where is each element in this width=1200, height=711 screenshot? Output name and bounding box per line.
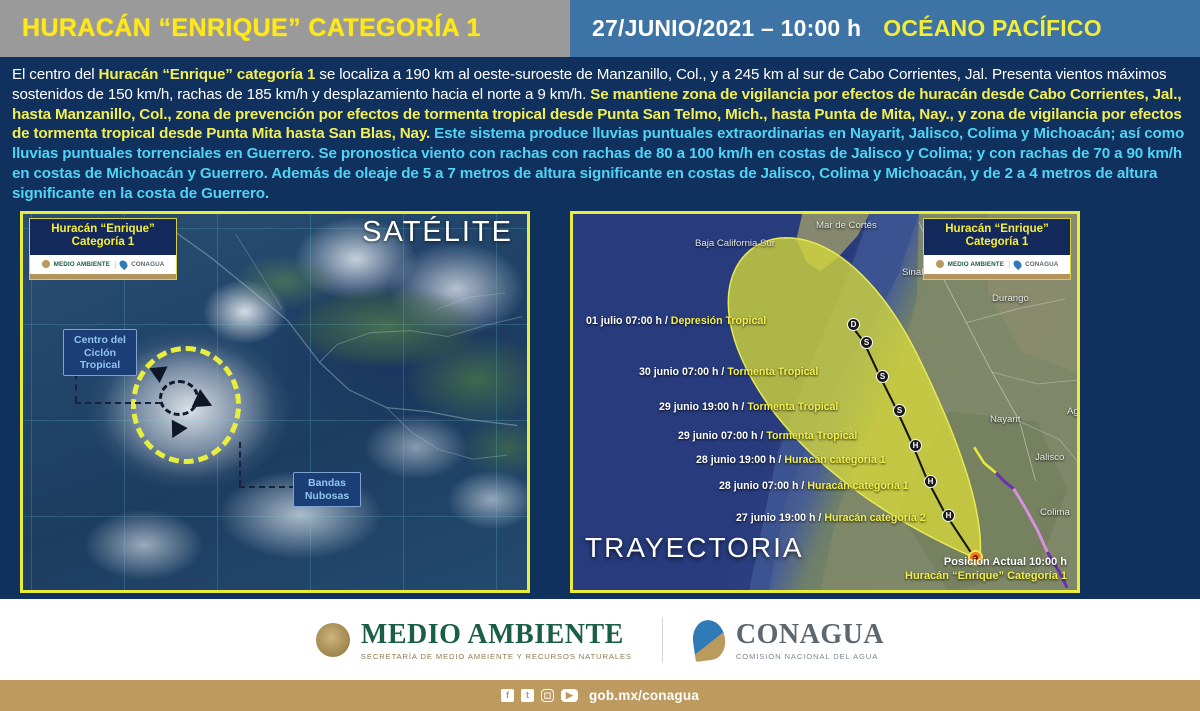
water-drop-icon xyxy=(118,259,129,270)
forecast-time-2: 29 junio 19:00 h xyxy=(659,401,738,413)
forecast-sep-4: / xyxy=(775,454,784,466)
forecast-label-01julio: 01 julio 07:00 h / Depresión Tropical xyxy=(586,315,766,327)
forecast-sep-0: / xyxy=(662,315,671,327)
forecast-sep-2: / xyxy=(738,401,747,413)
place-label-jalisco: Jalisco xyxy=(1035,452,1064,463)
satellite-badge-logo-cn: CONAGUA xyxy=(131,261,164,268)
trajectory-badge-logos: MEDIO AMBIENTE | CONAGUA xyxy=(924,255,1070,274)
footer-logo-divider xyxy=(662,617,663,663)
forecast-category-5: Huracán categoría 1 xyxy=(807,480,908,492)
trajectory-panel-label: TRAYECTORIA xyxy=(585,532,804,564)
forecast-time-5: 28 junio 07:00 h xyxy=(719,480,798,492)
forecast-time-3: 29 junio 07:00 h xyxy=(678,430,757,442)
text-segment-1: El centro del xyxy=(12,66,99,83)
callout-leader-horizontal-centro xyxy=(75,402,161,404)
forecast-category-4: Huracán categoría 1 xyxy=(784,454,885,466)
logo-conagua: CONAGUA COMISIÓN NACIONAL DEL AGUA xyxy=(693,619,884,661)
place-label-nayarit: Nayarit xyxy=(990,414,1020,425)
forecast-sep-6: / xyxy=(815,512,824,524)
footer-medio-ambiente-title: MEDIO AMBIENTE xyxy=(361,619,632,651)
forecast-category-1: Tormenta Tropical xyxy=(727,366,818,378)
forecast-time-4: 28 junio 19:00 h xyxy=(696,454,775,466)
text-segment-2-highlight: Huracán “Enrique” categoría 1 xyxy=(99,66,316,83)
trajectory-badge-logo-ma: MEDIO AMBIENTE xyxy=(948,261,1004,268)
twitter-icon[interactable]: t xyxy=(521,689,534,702)
footer-social-bar: f t ◻ ▶ gob.mx/conagua xyxy=(0,680,1200,711)
forecast-label-28junio-0700: 28 junio 07:00 h / Huracán categoría 1 xyxy=(719,480,909,492)
footer-logos-bar: MEDIO AMBIENTE SECRETARÍA DE MEDIO AMBIE… xyxy=(0,599,1200,680)
forecast-label-29junio-1900: 29 junio 19:00 h / Tormenta Tropical xyxy=(659,401,838,413)
header-right-section: 27/JUNIO/2021 – 10:00 h OCÉANO PACÍFICO xyxy=(570,0,1200,57)
place-label-mar-de-cortes: Mar de Cortés xyxy=(816,220,877,231)
satellite-badge-title: Huracán “Enrique” Categoría 1 xyxy=(30,219,176,254)
place-label-baja-california-sur: Baja California Sur xyxy=(695,238,775,249)
callout-centro-ciclon-tropical: Centro del Ciclón Tropical xyxy=(63,329,137,376)
forecast-time-1: 30 junio 07:00 h xyxy=(639,366,718,378)
eagle-emblem-icon xyxy=(42,260,50,268)
footer-conagua-title: CONAGUA xyxy=(736,619,884,651)
satellite-badge-logos: MEDIO AMBIENTE | CONAGUA xyxy=(30,255,176,274)
footer-medio-ambiente-subtitle: SECRETARÍA DE MEDIO AMBIENTE Y RECURSOS … xyxy=(361,652,632,661)
header-bar: HURACÁN “ENRIQUE” CATEGORÍA 1 27/JUNIO/2… xyxy=(0,0,1200,57)
conagua-drop-icon xyxy=(690,617,727,661)
forecast-category-0: Depresión Tropical xyxy=(671,315,766,327)
facebook-icon[interactable]: f xyxy=(501,689,514,702)
satellite-badge: Huracán “Enrique” Categoría 1 MEDIO AMBI… xyxy=(29,218,177,279)
forecast-sep-3: / xyxy=(757,430,766,442)
youtube-icon[interactable]: ▶ xyxy=(561,689,578,702)
water-drop-icon xyxy=(1012,259,1023,270)
bulletin-text: El centro del Huracán “Enrique” categorí… xyxy=(0,57,1200,205)
forecast-label-29junio-0700: 29 junio 07:00 h / Tormenta Tropical xyxy=(678,430,857,442)
instagram-icon[interactable]: ◻ xyxy=(541,689,554,702)
hurricane-eye-ring xyxy=(159,380,199,416)
panels-container: Centro del Ciclón Tropical Bandas Nubosa… xyxy=(0,205,1200,603)
trajectory-panel: D S S S H H H 01 julio 07:00 h / Depresi… xyxy=(570,211,1080,593)
header-ocean-label: OCÉANO PACÍFICO xyxy=(883,15,1102,42)
place-label-ags: Ags xyxy=(1067,406,1080,417)
satellite-badge-line2: Categoría 1 xyxy=(32,236,174,249)
current-position-line2: Huracán “Enrique” Categoría 1 xyxy=(905,569,1067,584)
satellite-badge-strip xyxy=(30,274,176,279)
mexico-coat-of-arms-icon xyxy=(316,623,350,657)
callout-leader-horizontal-bandas xyxy=(239,486,295,488)
forecast-label-28junio-1900: 28 junio 19:00 h / Huracán categoría 1 xyxy=(696,454,886,466)
place-label-colima: Colima xyxy=(1040,507,1070,518)
forecast-time-6: 27 junio 19:00 h xyxy=(736,512,815,524)
forecast-category-2: Tormenta Tropical xyxy=(747,401,838,413)
forecast-sep-5: / xyxy=(798,480,807,492)
forecast-category-3: Tormenta Tropical xyxy=(766,430,857,442)
trajectory-badge-line2: Categoría 1 xyxy=(926,236,1068,249)
trajectory-badge-title: Huracán “Enrique” Categoría 1 xyxy=(924,219,1070,254)
footer-conagua-subtitle: COMISIÓN NACIONAL DEL AGUA xyxy=(736,652,884,661)
trajectory-badge: Huracán “Enrique” Categoría 1 MEDIO AMBI… xyxy=(923,218,1071,279)
eagle-emblem-icon xyxy=(936,260,944,268)
header-datetime: 27/JUNIO/2021 – 10:00 h xyxy=(592,15,861,42)
page-title: HURACÁN “ENRIQUE” CATEGORÍA 1 xyxy=(22,14,481,43)
satellite-badge-line1: Huracán “Enrique” xyxy=(32,223,174,236)
satellite-badge-logo-ma: MEDIO AMBIENTE xyxy=(54,261,110,268)
logo-medio-ambiente: MEDIO AMBIENTE SECRETARÍA DE MEDIO AMBIE… xyxy=(316,619,632,661)
forecast-category-6: Huracán categoría 2 xyxy=(824,512,925,524)
forecast-sep-1: / xyxy=(718,366,727,378)
satellite-panel-label: SATÉLITE xyxy=(362,216,513,249)
forecast-label-27junio-1900: 27 junio 19:00 h / Huracán categoría 2 xyxy=(736,512,926,524)
trajectory-badge-logo-cn: CONAGUA xyxy=(1025,261,1058,268)
trajectory-badge-strip xyxy=(924,274,1070,279)
footer-website-url[interactable]: gob.mx/conagua xyxy=(589,688,699,703)
callout-leader-vertical-bandas xyxy=(239,442,241,486)
callout-bandas-nubosas: Bandas Nubosas xyxy=(293,472,361,507)
trajectory-badge-line1: Huracán “Enrique” xyxy=(926,223,1068,236)
current-position-line1: Posición Actual 10:00 h xyxy=(905,555,1067,570)
header-left-section: HURACÁN “ENRIQUE” CATEGORÍA 1 xyxy=(0,0,570,57)
place-label-durango: Durango xyxy=(992,293,1029,304)
forecast-time-0: 01 julio 07:00 h xyxy=(586,315,662,327)
forecast-label-30junio-0700: 30 junio 07:00 h / Tormenta Tropical xyxy=(639,366,818,378)
badge-logo-divider: | xyxy=(114,260,116,269)
satellite-panel: Centro del Ciclón Tropical Bandas Nubosa… xyxy=(20,211,530,593)
badge-logo-divider: | xyxy=(1008,260,1010,269)
current-position-label: Posición Actual 10:00 h Huracán “Enrique… xyxy=(905,555,1067,585)
